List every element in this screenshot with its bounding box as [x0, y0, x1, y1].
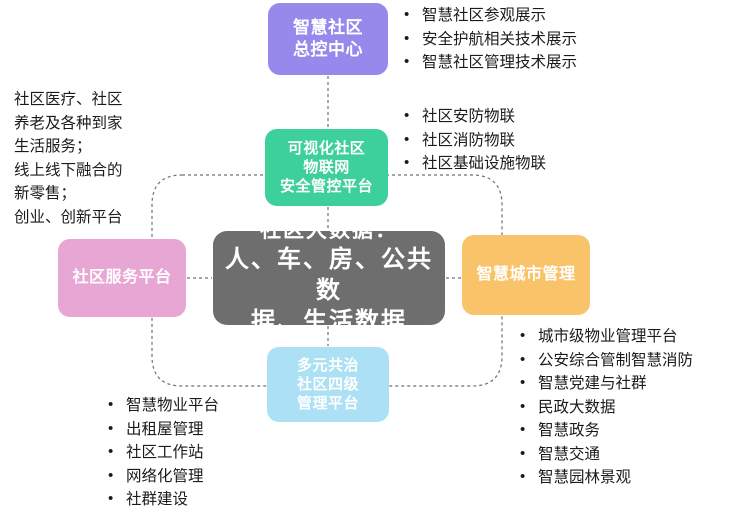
green-bullet-list: • 社区安防物联 • 社区消防物联 • 社区基础设施物联	[404, 105, 546, 176]
list-item: • 网络化管理	[108, 465, 219, 489]
list-item-label: 出租屋管理	[126, 418, 204, 442]
list-item: • 社区消防物联	[404, 129, 546, 153]
bullet-icon: •	[520, 396, 538, 419]
top-node-line-2: 总控中心	[293, 39, 363, 61]
bullet-icon: •	[108, 465, 126, 488]
left-text-line: 新零售；	[14, 182, 123, 206]
bottom-node-line-2: 社区四级	[297, 375, 359, 394]
list-item: • 社区基础设施物联	[404, 152, 546, 176]
center-node-line-2: 人、车、房、公共数	[213, 245, 445, 306]
list-item-label: 社区工作站	[126, 441, 204, 465]
list-item: • 智慧社区参观展示	[404, 4, 577, 28]
bullet-icon: •	[520, 325, 538, 348]
list-item: • 智慧社区管理技术展示	[404, 51, 577, 75]
green-list-items: • 社区安防物联 • 社区消防物联 • 社区基础设施物联	[404, 105, 546, 176]
top-bullet-list: • 智慧社区参观展示 • 安全护航相关技术展示 • 智慧社区管理技术展示	[404, 4, 577, 75]
list-item-label: 安全护航相关技术展示	[422, 28, 577, 52]
bullet-icon: •	[520, 372, 538, 395]
list-item: • 社群建设	[108, 488, 219, 512]
node-smart-community-control-center[interactable]: 智慧社区 总控中心	[268, 3, 388, 75]
bullet-icon: •	[108, 488, 126, 511]
list-item: • 民政大数据	[520, 396, 693, 420]
bottom-list-items: • 智慧物业平台 • 出租屋管理 • 社区工作站 • 网络化管理 • 社群建设	[108, 394, 219, 512]
list-item: • 智慧交通	[520, 443, 693, 467]
list-item-label: 智慧物业平台	[126, 394, 219, 418]
bullet-icon: •	[520, 349, 538, 372]
list-item-label: 社群建设	[126, 488, 188, 512]
top-node-line-1: 智慧社区	[293, 17, 363, 39]
bottom-node-line-1: 多元共治	[297, 356, 359, 375]
green-node-line-2: 物联网	[280, 158, 373, 177]
bullet-icon: •	[404, 105, 422, 128]
left-text-line: 创业、创新平台	[14, 206, 123, 230]
right-node-line-1: 智慧城市管理	[476, 265, 575, 285]
green-node-line-3: 安全管控平台	[280, 177, 373, 196]
list-item-label: 社区基础设施物联	[422, 152, 546, 176]
list-item: • 出租屋管理	[108, 418, 219, 442]
bullet-icon: •	[404, 152, 422, 175]
bullet-icon: •	[520, 466, 538, 489]
list-item-label: 民政大数据	[538, 396, 616, 420]
list-item-label: 社区安防物联	[422, 105, 515, 129]
left-text-line: 社区医疗、社区	[14, 88, 123, 112]
bullet-icon: •	[108, 418, 126, 441]
list-item: • 智慧园林景观	[520, 466, 693, 490]
bullet-icon: •	[404, 51, 422, 74]
bullet-icon: •	[108, 441, 126, 464]
list-item: • 社区安防物联	[404, 105, 546, 129]
list-item-label: 社区消防物联	[422, 129, 515, 153]
node-multi-governance-platform[interactable]: 多元共治 社区四级 管理平台	[267, 347, 389, 422]
list-item: • 智慧政务	[520, 419, 693, 443]
list-item-label: 智慧社区参观展示	[422, 4, 546, 28]
node-community-big-data[interactable]: 社区大数据： 人、车、房、公共数 据、生活数据	[213, 231, 445, 325]
left-text-line: 生活服务；	[14, 135, 123, 159]
top-list-items: • 智慧社区参观展示 • 安全护航相关技术展示 • 智慧社区管理技术展示	[404, 4, 577, 75]
list-item-label: 网络化管理	[126, 465, 204, 489]
left-description-text: 社区医疗、社区 养老及各种到家 生活服务； 线上线下融合的 新零售； 创业、创新…	[14, 88, 123, 229]
left-text-lines: 社区医疗、社区 养老及各种到家 生活服务； 线上线下融合的 新零售； 创业、创新…	[14, 88, 123, 229]
list-item: • 城市级物业管理平台	[520, 325, 693, 349]
list-item-label: 智慧社区管理技术展示	[422, 51, 577, 75]
bullet-icon: •	[108, 394, 126, 417]
list-item-label: 智慧交通	[538, 443, 600, 467]
right-bullet-list: • 城市级物业管理平台 • 公安综合管制智慧消防 • 智慧党建与社群 • 民政大…	[520, 325, 693, 490]
list-item-label: 智慧园林景观	[538, 466, 631, 490]
bottom-node-line-3: 管理平台	[297, 394, 359, 413]
diagram-canvas: 社区大数据： 人、车、房、公共数 据、生活数据 智慧社区 总控中心 可视化社区 …	[0, 0, 740, 512]
list-item: • 社区工作站	[108, 441, 219, 465]
bullet-icon: •	[520, 443, 538, 466]
bullet-icon: •	[520, 419, 538, 442]
list-item-label: 公安综合管制智慧消防	[538, 349, 693, 373]
left-text-line: 线上线下融合的	[14, 159, 123, 183]
bullet-icon: •	[404, 4, 422, 27]
node-smart-city-management[interactable]: 智慧城市管理	[462, 235, 590, 315]
green-node-line-1: 可视化社区	[280, 139, 373, 158]
node-visual-community-iot-platform[interactable]: 可视化社区 物联网 安全管控平台	[265, 129, 388, 206]
node-community-service-platform[interactable]: 社区服务平台	[58, 239, 186, 317]
list-item-label: 智慧党建与社群	[538, 372, 647, 396]
left-node-line-1: 社区服务平台	[72, 268, 171, 288]
center-node-line-1: 社区大数据：	[213, 218, 445, 245]
center-node-line-3: 据、生活数据	[213, 307, 445, 338]
list-item: • 安全护航相关技术展示	[404, 28, 577, 52]
left-text-line: 养老及各种到家	[14, 112, 123, 136]
list-item: • 智慧党建与社群	[520, 372, 693, 396]
bottom-bullet-list: • 智慧物业平台 • 出租屋管理 • 社区工作站 • 网络化管理 • 社群建设	[108, 394, 219, 512]
bullet-icon: •	[404, 129, 422, 152]
list-item-label: 智慧政务	[538, 419, 600, 443]
list-item: • 智慧物业平台	[108, 394, 219, 418]
list-item-label: 城市级物业管理平台	[538, 325, 678, 349]
bullet-icon: •	[404, 28, 422, 51]
list-item: • 公安综合管制智慧消防	[520, 349, 693, 373]
right-list-items: • 城市级物业管理平台 • 公安综合管制智慧消防 • 智慧党建与社群 • 民政大…	[520, 325, 693, 490]
